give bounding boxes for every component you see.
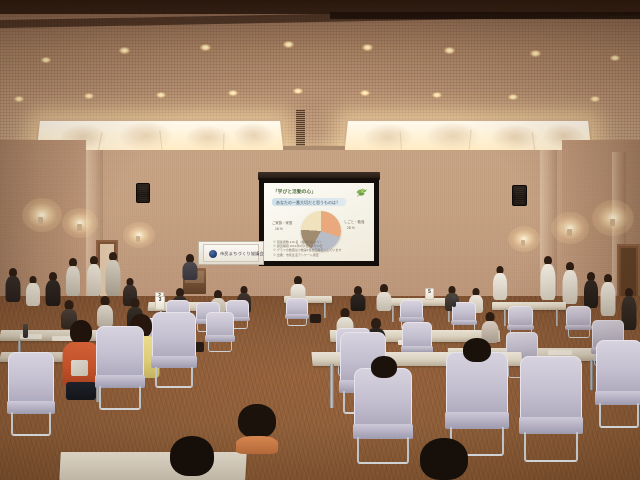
recessed-downlight bbox=[610, 55, 620, 61]
shirt-graphic bbox=[71, 360, 88, 376]
recessed-downlight bbox=[156, 92, 166, 98]
seated-attendee bbox=[168, 436, 216, 480]
chair-legs bbox=[208, 341, 233, 352]
circular-blue-logo bbox=[209, 250, 217, 258]
chair-back bbox=[400, 300, 423, 319]
seminar-hall-photo: 「学びと活動の心」 あなたの一番大切だと思うものは？ ご家族・家庭 18 % し… bbox=[0, 0, 640, 480]
chair-back bbox=[508, 306, 533, 326]
standing-attendee bbox=[25, 276, 40, 306]
child-head bbox=[70, 320, 92, 344]
chair-back bbox=[96, 326, 144, 380]
chair-legs bbox=[287, 318, 306, 326]
slide-subtitle: あなたの一番大切だと思うものは？ bbox=[276, 200, 340, 206]
recessed-downlight bbox=[200, 44, 211, 51]
child-shorts bbox=[66, 382, 96, 400]
chair-back bbox=[8, 352, 54, 406]
table-leg bbox=[504, 309, 506, 326]
attendee-torso bbox=[26, 283, 40, 306]
wall-sconce bbox=[38, 217, 43, 224]
table-leg bbox=[556, 309, 558, 326]
recessed-downlight bbox=[590, 96, 600, 102]
handout-paper bbox=[548, 350, 572, 355]
wall-sconce-glow bbox=[62, 208, 98, 238]
chair-back bbox=[206, 312, 234, 338]
stacking-chair[interactable] bbox=[206, 312, 234, 352]
wall-sconce bbox=[136, 236, 140, 242]
recessed-downlight bbox=[84, 93, 94, 99]
recessed-downlight bbox=[283, 41, 294, 48]
standing-attendee bbox=[562, 262, 578, 304]
recessed-downlight bbox=[228, 90, 238, 96]
attendee-head bbox=[170, 436, 214, 476]
attendee-torso bbox=[584, 280, 598, 308]
chair-back bbox=[152, 312, 196, 361]
seated-attendee bbox=[376, 284, 392, 310]
stacking-chair[interactable] bbox=[286, 298, 308, 326]
ceiling-beam-rear-right bbox=[330, 12, 640, 19]
chair-back bbox=[566, 306, 591, 326]
stacking-chair[interactable] bbox=[152, 312, 196, 388]
wall-sconce bbox=[610, 219, 615, 226]
recessed-downlight bbox=[444, 47, 455, 54]
attendee-head bbox=[463, 338, 491, 362]
recessed-downlight bbox=[432, 92, 442, 98]
chair-legs bbox=[99, 386, 141, 410]
table-number-card: 3 bbox=[155, 296, 165, 310]
standing-attendee bbox=[5, 268, 21, 302]
recessed-downlight bbox=[293, 88, 303, 94]
slide-title: 「学びと活動の心」 bbox=[273, 189, 316, 195]
projected-slide: 「学びと活動の心」 あなたの一番大切だと思うものは？ ご家族・家庭 18 % し… bbox=[264, 183, 374, 261]
standing-attendee bbox=[45, 272, 61, 306]
seated-attendee bbox=[290, 276, 305, 300]
table-leg bbox=[330, 364, 334, 408]
standing-attendee bbox=[86, 256, 101, 296]
water-bottle bbox=[452, 296, 456, 307]
wall-sconce bbox=[77, 224, 82, 231]
attendee-bag bbox=[310, 314, 321, 323]
leaf-graphic bbox=[355, 187, 369, 198]
attendee-torso bbox=[106, 260, 121, 296]
banquet-table bbox=[59, 452, 246, 480]
attendee-torso bbox=[493, 273, 507, 300]
chair-legs bbox=[524, 432, 579, 462]
seated-attendee bbox=[370, 356, 398, 378]
table-number-card: 5 bbox=[425, 288, 434, 300]
ceiling-speaker-left bbox=[136, 183, 150, 203]
stacking-chair[interactable] bbox=[354, 368, 412, 464]
footnote-4: ※ 出典：市民生活アンケート調査 bbox=[273, 253, 341, 257]
standing-attendee bbox=[65, 258, 80, 296]
seated-attendee bbox=[418, 438, 470, 480]
chair-back bbox=[520, 356, 582, 424]
attendee-head bbox=[420, 438, 468, 480]
wall-sconce bbox=[521, 240, 525, 246]
seated-attendee bbox=[350, 286, 366, 310]
pie-label-right-value: 28 % bbox=[347, 226, 355, 230]
wall-sconce bbox=[567, 229, 572, 236]
stacking-chair[interactable] bbox=[96, 326, 144, 410]
attendee-torso bbox=[541, 264, 556, 300]
chair-back bbox=[402, 322, 432, 349]
chair-legs bbox=[357, 437, 408, 464]
projection-screen: 「学びと活動の心」 あなたの一番大切だと思うものは？ ご家族・家庭 18 % し… bbox=[259, 178, 379, 266]
stacking-chair[interactable] bbox=[520, 356, 582, 462]
stacking-chair[interactable] bbox=[566, 306, 591, 338]
attendee-torso bbox=[46, 280, 61, 306]
attendee-head bbox=[238, 404, 276, 438]
standing-attendee bbox=[540, 256, 556, 300]
pie-label-right-top: しごと・勉強 bbox=[344, 220, 364, 224]
table-leg bbox=[392, 305, 394, 322]
chair-back bbox=[286, 298, 308, 316]
attendee-torso bbox=[87, 264, 101, 296]
water-bottle bbox=[23, 324, 28, 338]
attendee-torso bbox=[563, 270, 578, 304]
pie-label-left-value: 18 % bbox=[275, 227, 283, 231]
chair-legs bbox=[155, 367, 194, 388]
presenter-at-podium bbox=[182, 254, 198, 280]
banner-text: 市民まちづくり協議会 bbox=[220, 251, 264, 257]
seated-attendee bbox=[462, 338, 492, 362]
ceiling-speaker-right bbox=[512, 185, 527, 206]
attendee-torso bbox=[236, 436, 278, 454]
presenter-torso bbox=[183, 262, 198, 280]
table-leg bbox=[324, 302, 326, 318]
recessed-downlight bbox=[41, 57, 51, 63]
seated-attendee bbox=[236, 404, 278, 450]
chair-legs bbox=[11, 412, 51, 436]
slide-footnotes: ※ 回答者数 416 名（複数回答あり） ※ 調査期間 2014年6月1日〜6月… bbox=[273, 240, 341, 257]
wall-sconce-glow bbox=[22, 198, 62, 232]
stacking-chair[interactable] bbox=[8, 352, 54, 436]
attendee-head bbox=[371, 356, 397, 378]
chair-back bbox=[596, 340, 640, 396]
standing-attendee bbox=[583, 272, 598, 308]
standing-attendee bbox=[105, 252, 121, 296]
wall-sconce-glow bbox=[592, 200, 634, 236]
standing-attendee bbox=[600, 274, 616, 316]
chair-legs bbox=[568, 329, 590, 338]
standing-attendee bbox=[492, 266, 507, 300]
attendee-torso bbox=[377, 292, 392, 311]
wall-sconce-glow bbox=[508, 226, 540, 252]
stacking-chair[interactable] bbox=[596, 340, 640, 428]
recessed-downlight bbox=[362, 44, 373, 51]
attendee-torso bbox=[6, 276, 21, 302]
attendee-torso bbox=[66, 266, 80, 296]
attendee-torso bbox=[601, 282, 616, 316]
wall-sconce-glow bbox=[123, 222, 155, 248]
recessed-downlight bbox=[119, 47, 130, 54]
chair-legs bbox=[599, 403, 639, 428]
pie-label-left-top: ご家族・家庭 bbox=[272, 221, 292, 225]
recessed-downlight bbox=[14, 96, 24, 102]
recessed-downlight bbox=[508, 94, 518, 100]
wall-sconce-glow bbox=[551, 212, 589, 244]
slide-subtitle-bar: あなたの一番大切だと思うものは？ bbox=[272, 198, 346, 206]
recessed-downlight bbox=[530, 50, 541, 57]
stacking-chair[interactable] bbox=[452, 302, 476, 333]
organization-banner: 市民まちづくり協議会 bbox=[203, 244, 259, 262]
recessed-downlight bbox=[360, 90, 370, 96]
